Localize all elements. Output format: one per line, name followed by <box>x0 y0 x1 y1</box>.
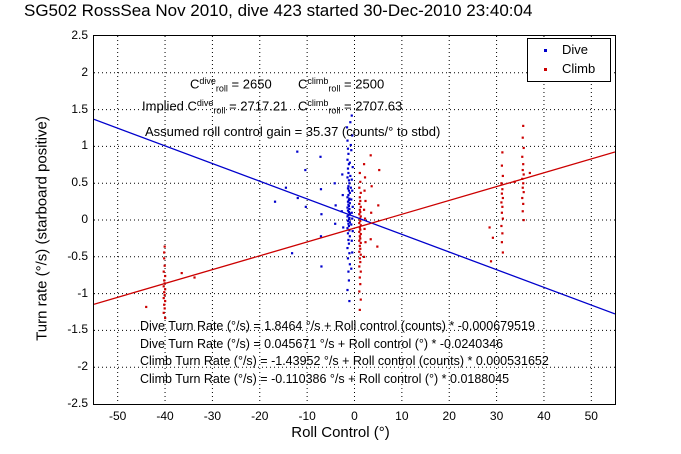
x-tick-label: 10 <box>380 409 424 423</box>
y-tick-label: 0.5 <box>48 175 88 189</box>
y-tick-label: -2 <box>48 359 88 373</box>
y-tick-label: 2 <box>48 65 88 79</box>
annotation-implied-climb: Cclimbroll = 2707.63 <box>298 98 402 116</box>
x-tick-label: -20 <box>238 409 282 423</box>
y-tick-label: -1.5 <box>48 322 88 336</box>
x-tick-label: 50 <box>569 409 613 423</box>
y-tick-label: -2.5 <box>48 396 88 410</box>
y-tick-label: 1.5 <box>48 102 88 116</box>
legend-item-dive: Dive <box>528 41 612 61</box>
y-tick-label: 1 <box>48 138 88 152</box>
equation-line: Dive Turn Rate (°/s) = 0.045671 °/s + Ro… <box>140 336 670 354</box>
y-tick-label: 0 <box>48 212 88 226</box>
x-tick-label: 20 <box>427 409 471 423</box>
page-title: SG502 RossSea Nov 2010, dive 423 started… <box>24 1 532 21</box>
y-axis-ticks: 2.521.510.50-0.5-1-1.5-2-2.5 <box>43 35 88 405</box>
x-tick-label: -30 <box>190 409 234 423</box>
equation-line: Dive Turn Rate (°/s) = 1.8464 °/s + Roll… <box>140 318 670 336</box>
x-tick-label: -40 <box>143 409 187 423</box>
x-tick-label: -50 <box>96 409 140 423</box>
annotation-c-climb-roll: Cclimbroll = 2500 <box>298 76 384 94</box>
series-climb-points <box>145 125 531 319</box>
legend-label-climb: Climb <box>562 61 595 76</box>
annotation-roll-control-gain: Assumed roll control gain = 35.37 (count… <box>145 124 440 139</box>
equation-line: Climb Turn Rate (°/s) = -1.43952 °/s + R… <box>140 353 670 371</box>
x-tick-label: 30 <box>475 409 519 423</box>
series-dive-points <box>274 114 354 302</box>
legend-label-dive: Dive <box>562 42 588 57</box>
regression-equations: Dive Turn Rate (°/s) = 1.8464 °/s + Roll… <box>140 318 670 388</box>
fit-line-climb <box>94 152 615 304</box>
x-tick-label: 40 <box>522 409 566 423</box>
x-tick-label: 0 <box>333 409 377 423</box>
x-axis-label: Roll Control (°) <box>0 424 681 441</box>
y-tick-label: -1 <box>48 286 88 300</box>
legend-marker-climb-icon <box>544 68 547 71</box>
x-tick-label: -10 <box>285 409 329 423</box>
y-axis-label-container: Turn rate (°/s) (starboard positive) <box>10 30 34 390</box>
annotation-implied-dive: Implied Cdiveroll = 2717.21 <box>142 98 287 116</box>
annotation-c-dive-roll: Cdiveroll = 2650 <box>190 76 272 94</box>
y-tick-label: 2.5 <box>48 28 88 42</box>
legend-item-climb: Climb <box>528 60 612 80</box>
legend-marker-dive-icon <box>544 49 547 52</box>
equation-line: Climb Turn Rate (°/s) = -0.110386 °/s + … <box>140 371 670 389</box>
legend: Dive Climb <box>527 38 611 82</box>
y-tick-label: -0.5 <box>48 249 88 263</box>
